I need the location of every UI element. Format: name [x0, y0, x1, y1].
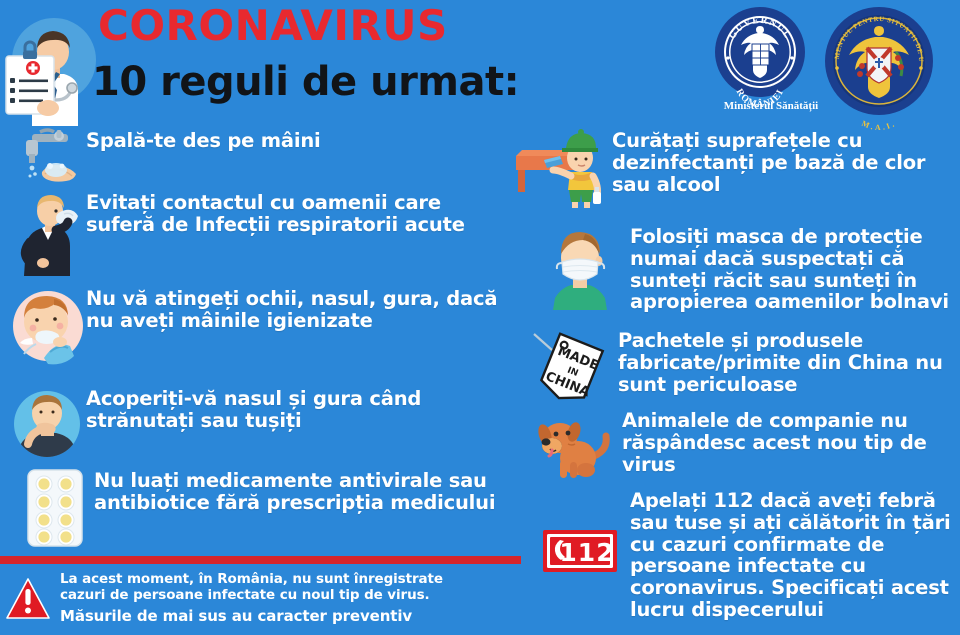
page-title: CORONAVIRUS [98, 5, 448, 47]
ministry-label: Ministerul Sănătății [706, 100, 836, 112]
warning-triangle-icon [6, 578, 50, 620]
emergency-112-logo-icon: 112 [508, 490, 630, 572]
warning-line-1: La acest moment, în România, nu sunt înr… [60, 572, 522, 588]
rule-item: Folosiți masca de protecție numai dacă s… [508, 224, 960, 328]
boy-sneezing-icon [0, 286, 86, 370]
rule-item: Evitați contactul cu oamenii care suferă… [0, 190, 500, 286]
government-logos: GUVERNUL ROMÂNIEI [702, 4, 952, 122]
rule-item: Curățați suprafețele cu dezinfectanți pe… [508, 128, 960, 224]
rule-text: Nu vă atingeți ochii, nasul, gura, dacă … [86, 286, 500, 332]
rule-item: 112 Apelați 112 dacă aveți febră sau tus… [508, 490, 960, 602]
rule-text: Evitați contactul cu oamenii care suferă… [86, 190, 500, 236]
poster-header: CORONAVIRUS 10 reguli de urmat: [0, 0, 960, 125]
warning-line-2: cazuri de persoane infectate cu noul tip… [60, 588, 522, 604]
rules-right-column: Curățați suprafețele cu dezinfectanți pe… [508, 128, 960, 602]
rule-text: Pachetele și produsele fabricate/primite… [618, 328, 960, 395]
person-face-mask-icon [508, 224, 630, 310]
person-covering-mouth-icon [0, 386, 86, 462]
man-coughing-tissue-icon [0, 190, 86, 276]
faucet-handwash-icon [0, 128, 86, 186]
page-subtitle: 10 reguli de urmat: [92, 62, 519, 102]
rule-text: Folosiți masca de protecție numai dacă s… [630, 224, 960, 313]
rule-item: Animalele de companie nu răspândesc aces… [508, 408, 960, 490]
boy-cleaning-surface-icon [508, 128, 612, 208]
rule-item: MADE IN CHINA Pachetele și produsele fab… [508, 328, 960, 408]
dsu-mai-seal-icon: DEPARTAMENTUL PENTRU SITUAȚII DE URGENȚĂ… [824, 6, 934, 116]
doctor-clipboard-icon [2, 8, 102, 126]
coronavirus-infographic-poster: CORONAVIRUS 10 reguli de urmat: [0, 0, 960, 635]
warning-note: La acest moment, în România, nu sunt înr… [0, 570, 525, 635]
warning-text-block: La acest moment, în România, nu sunt înr… [60, 572, 522, 626]
rule-text: Apelați 112 dacă aveți febră sau tuse și… [630, 490, 960, 621]
warning-line-3: Măsurile de mai sus au caracter preventi… [60, 604, 522, 627]
rules-left-column: Spală-te des pe mâini [0, 128, 500, 558]
rule-item: Nu luați medicamente antivirale sau anti… [0, 468, 500, 558]
rule-item: Nu vă atingeți ochii, nasul, gura, dacă … [0, 286, 500, 386]
made-in-china-tag-icon: MADE IN CHINA [508, 328, 618, 404]
red-divider [0, 556, 521, 564]
pill-blister-pack-icon [0, 468, 94, 548]
rule-text: Animalele de companie nu răspândesc aces… [622, 408, 960, 475]
rule-text: Nu luați medicamente antivirale sau anti… [94, 468, 500, 514]
guvernul-romaniei-seal-icon: GUVERNUL ROMÂNIEI [714, 6, 806, 98]
emergency-number-label: 112 [559, 538, 614, 567]
rule-text: Spală-te des pe mâini [86, 128, 321, 152]
rule-item: Spală-te des pe mâini [0, 128, 500, 190]
rule-item: Acoperiți-vă nasul și gura când strănuta… [0, 386, 500, 468]
rule-text: Curățați suprafețele cu dezinfectanți pe… [612, 128, 960, 195]
puppy-dog-icon [508, 408, 622, 482]
rule-text: Acoperiți-vă nasul și gura când strănuta… [86, 386, 500, 432]
